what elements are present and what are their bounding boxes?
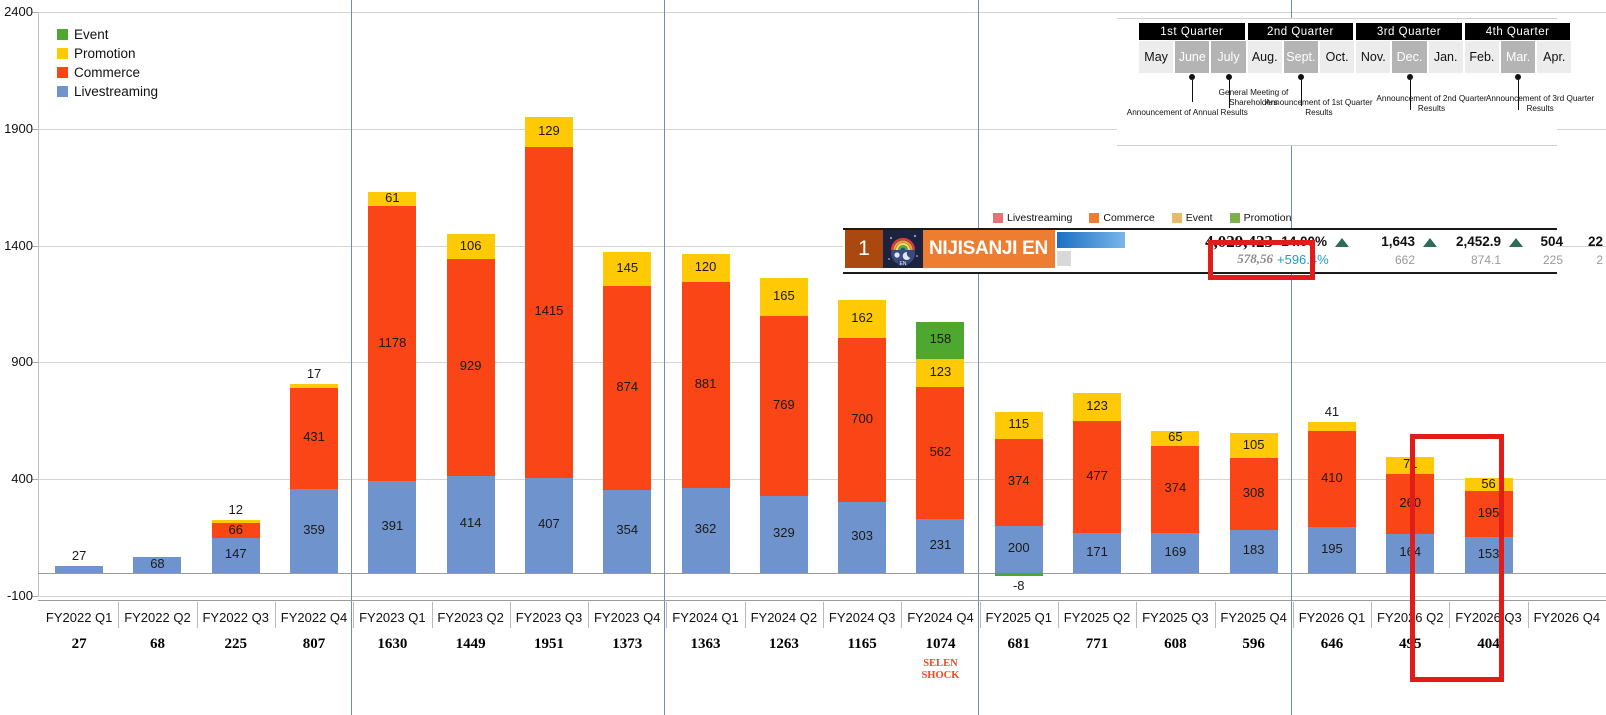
event-label: Announcement of Annual Results — [1112, 108, 1262, 118]
segment-value-label: 200 — [995, 541, 1043, 554]
x-tick-label: FY2023 Q3 — [510, 610, 588, 625]
avatar: EN — [883, 230, 923, 268]
bar-segment-livestreaming: 200 — [995, 526, 1043, 573]
event-label: Announcement of 1st Quarter Results — [1261, 98, 1376, 118]
segment-value-label: 700 — [838, 412, 886, 425]
legend-swatch-icon — [57, 29, 68, 40]
bar-segment-promotion: 106 — [447, 234, 495, 259]
segment-value-label: 769 — [760, 398, 808, 411]
quarter-total: 1363 — [666, 636, 744, 653]
quarter-total: 807 — [275, 636, 353, 653]
bar-segment-commerce: 477 — [1073, 421, 1121, 532]
bar-segment-livestreaming: 414 — [447, 476, 495, 573]
month-cell: July — [1211, 41, 1245, 73]
red-highlight-fy2026q3 — [1410, 434, 1504, 682]
col2-primary: 1,643 — [1355, 234, 1415, 249]
bar-segment-promotion: 129 — [525, 117, 573, 147]
month-cell: Apr. — [1537, 41, 1571, 73]
bar-segment-promotion: 165 — [760, 278, 808, 317]
col2-secondary: 662 — [1355, 253, 1415, 267]
bar-segment-livestreaming: 329 — [760, 496, 808, 573]
bar-segment-livestreaming: 407 — [525, 478, 573, 573]
revenue-gray-bar — [1057, 251, 1071, 266]
month-cell: Aug. — [1248, 41, 1282, 73]
y-tick-label: 900 — [0, 354, 33, 369]
segment-value-label: 410 — [1308, 471, 1356, 484]
mini-legend-label: Promotion — [1244, 212, 1292, 224]
quarter-header: 2nd Quarter — [1248, 23, 1354, 40]
calendar-top-rule — [1117, 18, 1557, 19]
legend-swatch-icon — [57, 67, 68, 78]
x-tick-label: FY2025 Q3 — [1136, 610, 1214, 625]
month-cell: Sept. — [1284, 41, 1318, 73]
segment-value-label: 120 — [682, 260, 730, 273]
month-cell: May — [1139, 41, 1173, 73]
segment-value-label-outside: 12 — [212, 502, 260, 517]
gridline — [38, 362, 1606, 363]
bar-segment-promotion: 120 — [682, 254, 730, 282]
x-label-separator — [980, 602, 981, 628]
month-cell: Feb. — [1465, 41, 1499, 73]
x-label-separator — [353, 602, 354, 628]
segment-value-label: 61 — [368, 191, 416, 204]
segment-value-label: 66 — [212, 523, 260, 536]
bar-segment-commerce: 308 — [1230, 458, 1278, 530]
quarter-total: 608 — [1136, 636, 1214, 653]
bar-segment-commerce: 66 — [212, 523, 260, 538]
bar-segment-commerce: 1178 — [368, 206, 416, 481]
col3-secondary: 874.1 — [1439, 253, 1501, 267]
quarter-total: 1951 — [510, 636, 588, 653]
gridline — [38, 12, 1606, 13]
quarter-total: 68 — [118, 636, 196, 653]
quarter-total: 27 — [40, 636, 118, 653]
quarter-total: 225 — [197, 636, 275, 653]
x-label-separator — [588, 602, 589, 628]
segment-value-label: 195 — [1308, 542, 1356, 555]
gridline — [38, 596, 1606, 597]
x-tick-label: FY2026 Q4 — [1528, 610, 1606, 625]
up-triangle-icon-1 — [1335, 238, 1349, 247]
y-tick-label: 1400 — [0, 238, 33, 253]
segment-value-label: 183 — [1230, 543, 1278, 556]
mini-legend-item: Event — [1172, 212, 1213, 224]
quarter-total: 1165 — [823, 636, 901, 653]
x-label-separator — [275, 602, 276, 628]
legend-item-commerce[interactable]: Commerce — [57, 63, 158, 82]
ranking-row[interactable]: 1 EN NIJISANJI EN 4,029,423 5 — [843, 228, 1557, 274]
quarter-header: 1st Quarter — [1139, 23, 1245, 40]
bar-segment-commerce: 874 — [603, 286, 651, 490]
legend-item-event[interactable]: Event — [57, 25, 158, 44]
x-label-separator — [510, 602, 511, 628]
bar-segment-livestreaming: 391 — [368, 481, 416, 572]
red-highlight-growth — [1208, 240, 1315, 280]
revenue-gradient-bar — [1057, 232, 1125, 248]
segment-value-label: 929 — [447, 359, 495, 372]
x-tick-label: FY2024 Q1 — [666, 610, 744, 625]
segment-value-label: 362 — [682, 522, 730, 535]
x-label-separator — [901, 602, 902, 628]
svg-text:EN: EN — [900, 261, 907, 267]
event-label: Announcement of 3rd Quarter Results — [1480, 94, 1600, 114]
month-cell: Dec. — [1392, 41, 1426, 73]
segment-value-label: 477 — [1073, 469, 1121, 482]
bar-segment-promotion — [1308, 422, 1356, 432]
segment-value-label: 123 — [1073, 399, 1121, 412]
segment-value-label-outside: 17 — [290, 366, 338, 381]
bar-segment-promotion: 123 — [916, 359, 964, 388]
x-label-separator — [745, 602, 746, 628]
x-label-separator — [118, 602, 119, 628]
x-label-separator — [432, 602, 433, 628]
x-label-separator — [1371, 602, 1372, 628]
chart-legend: EventPromotionCommerceLivestreaming — [57, 25, 158, 101]
quarter-total: 646 — [1293, 636, 1371, 653]
bar-segment-commerce: 700 — [838, 338, 886, 502]
legend-label: Livestreaming — [74, 84, 158, 99]
x-label-separator — [1058, 602, 1059, 628]
segment-value-label: 374 — [995, 474, 1043, 487]
y-tick-label: 400 — [0, 471, 33, 486]
bar-segment-livestreaming: 362 — [682, 488, 730, 573]
bar-segment-promotion: 65 — [1151, 431, 1199, 446]
mini-legend-item: Promotion — [1230, 212, 1292, 224]
bar-segment-promotion: 145 — [603, 252, 651, 286]
x-label-separator — [1293, 602, 1294, 628]
x-tick-label: FY2022 Q2 — [118, 610, 196, 625]
segment-value-label: 105 — [1230, 438, 1278, 451]
segment-value-label-outside: 27 — [55, 548, 103, 563]
quarter-total: 1263 — [745, 636, 823, 653]
x-tick-label: FY2022 Q4 — [275, 610, 353, 625]
segment-value-label-outside: 41 — [1308, 404, 1356, 419]
bar-segment-livestreaming: 169 — [1151, 533, 1199, 572]
month-cell: Nov. — [1356, 41, 1390, 73]
x-tick-label: FY2023 Q4 — [588, 610, 666, 625]
fiscal-year-divider — [664, 0, 665, 715]
segment-value-label: 106 — [447, 239, 495, 252]
bar-segment-commerce: 881 — [682, 282, 730, 488]
x-label-separator — [666, 602, 667, 628]
col4-primary: 504 — [1523, 234, 1563, 249]
bar-segment-commerce: 374 — [995, 439, 1043, 526]
x-tick-label: FY2024 Q3 — [823, 610, 901, 625]
x-tick-label: FY2022 Q1 — [40, 610, 118, 625]
quarter-total: 1630 — [353, 636, 431, 653]
bar-segment-livestreaming: 147 — [212, 538, 260, 572]
segment-value-label: 68 — [133, 557, 181, 570]
bar-segment-promotion: 123 — [1073, 393, 1121, 422]
up-triangle-icon-2 — [1423, 238, 1437, 247]
col3-primary: 2,452.9 — [1439, 234, 1501, 249]
segment-value-label: 329 — [760, 526, 808, 539]
bar-segment-commerce: 374 — [1151, 446, 1199, 533]
bar-segment-promotion: 162 — [838, 300, 886, 338]
month-cell: Oct. — [1320, 41, 1354, 73]
segment-value-label: 359 — [290, 523, 338, 536]
bar-segment-livestreaming: 195 — [1308, 527, 1356, 573]
quarter-total: 1449 — [432, 636, 510, 653]
segment-value-label: 147 — [212, 547, 260, 560]
ranking-mini-legend: LivestreamingCommerceEventPromotion — [993, 210, 1291, 226]
bar-segment-livestreaming: 231 — [916, 519, 964, 573]
legend-label: Event — [74, 27, 109, 42]
legend-swatch-icon — [57, 48, 68, 59]
segment-value-label: 115 — [995, 417, 1043, 430]
bar-segment-livestreaming: 68 — [133, 557, 181, 573]
fiscal-year-divider — [351, 0, 352, 715]
segment-value-label: 874 — [603, 380, 651, 393]
bar-segment-livestreaming — [55, 566, 103, 572]
segment-value-label: 308 — [1230, 486, 1278, 499]
segment-value-label: 1415 — [525, 304, 573, 317]
segment-value-label: 162 — [838, 311, 886, 324]
mini-legend-swatch-icon — [993, 213, 1003, 223]
col5-secondary: 2 — [1565, 253, 1603, 267]
mini-legend-label: Livestreaming — [1007, 212, 1072, 224]
segment-value-label: 129 — [525, 124, 573, 137]
legend-item-livestreaming[interactable]: Livestreaming — [57, 82, 158, 101]
segment-value-label: 431 — [290, 430, 338, 443]
legend-swatch-icon — [57, 86, 68, 97]
quarter-total: 596 — [1215, 636, 1293, 653]
segment-value-label: 414 — [447, 516, 495, 529]
rank-number: 1 — [845, 230, 883, 268]
segment-value-label: 145 — [603, 261, 651, 274]
segment-value-label: 303 — [838, 529, 886, 542]
mini-legend-label: Commerce — [1103, 212, 1154, 224]
legend-item-promotion[interactable]: Promotion — [57, 44, 158, 63]
mini-legend-swatch-icon — [1089, 213, 1099, 223]
month-cell: Jan. — [1429, 41, 1463, 73]
bar-segment-promotion — [212, 520, 260, 523]
legend-label: Commerce — [74, 65, 140, 80]
bar-segment-commerce: 562 — [916, 387, 964, 518]
x-tick-label: FY2025 Q4 — [1215, 610, 1293, 625]
month-cell: Mar. — [1501, 41, 1535, 73]
x-tick-label: FY2025 Q1 — [980, 610, 1058, 625]
x-tick-label: FY2022 Q3 — [197, 610, 275, 625]
segment-value-label: 169 — [1151, 545, 1199, 558]
mini-legend-label: Event — [1186, 212, 1213, 224]
bar-segment-commerce: 431 — [290, 388, 338, 489]
event-label: Announcement of 2nd Quarter Results — [1372, 94, 1492, 114]
ranking-overlay: LivestreamingCommerceEventPromotion 1 EN — [843, 210, 1557, 273]
mini-legend-swatch-icon — [1230, 213, 1240, 223]
col5-primary: 22 — [1565, 234, 1603, 249]
fiscal-year-divider — [978, 0, 979, 715]
segment-value-label: 391 — [368, 519, 416, 532]
segment-value-label: 354 — [603, 523, 651, 536]
segment-value-label: 158 — [916, 332, 964, 345]
x-tick-label: FY2024 Q4 — [901, 610, 979, 625]
month-cell: June — [1175, 41, 1209, 73]
x-label-separator — [1215, 602, 1216, 628]
bar-segment-promotion: 61 — [368, 192, 416, 206]
segment-value-label: 123 — [916, 365, 964, 378]
x-label-separator — [823, 602, 824, 628]
bar-segment-commerce: 410 — [1308, 431, 1356, 527]
gridline — [38, 479, 1606, 480]
x-label-separator — [197, 602, 198, 628]
segment-value-label: 562 — [916, 445, 964, 458]
zero-baseline — [38, 573, 1606, 574]
x-tick-label: FY2025 Q2 — [1058, 610, 1136, 625]
bar-segment-promotion: 105 — [1230, 433, 1278, 458]
x-axis-rule — [38, 600, 1606, 601]
segment-value-label: 231 — [916, 538, 964, 551]
segment-value-label: 65 — [1151, 430, 1199, 443]
x-tick-label: FY2024 Q2 — [745, 610, 823, 625]
quarter-header: 4th Quarter — [1465, 23, 1571, 40]
bar-segment-livestreaming: 354 — [603, 490, 651, 573]
selen-shock-annotation: SELENSHOCK — [901, 658, 979, 682]
segment-value-label: 374 — [1151, 481, 1199, 494]
bar-segment-promotion — [290, 384, 338, 388]
segment-value-label: 171 — [1073, 545, 1121, 558]
y-tick-label: 1900 — [0, 121, 33, 136]
segment-value-label: 165 — [760, 289, 808, 302]
segment-value-label: 1178 — [368, 336, 416, 349]
segment-value-label: 881 — [682, 377, 730, 390]
bar-segment-event-negative — [995, 573, 1043, 576]
x-label-separator — [1528, 602, 1529, 628]
bar-segment-commerce: 1415 — [525, 147, 573, 478]
calendar-bottom-rule — [1117, 145, 1557, 146]
bar-segment-event: 158 — [916, 322, 964, 359]
x-label-separator — [1136, 602, 1137, 628]
legend-label: Promotion — [74, 46, 136, 61]
mini-legend-item: Commerce — [1089, 212, 1154, 224]
bar-segment-commerce: 929 — [447, 259, 495, 476]
up-triangle-icon-3 — [1509, 238, 1523, 247]
mini-legend-item: Livestreaming — [993, 212, 1072, 224]
quarter-total: 681 — [980, 636, 1058, 653]
bar-segment-livestreaming: 183 — [1230, 530, 1278, 573]
quarter-total: 771 — [1058, 636, 1136, 653]
y-axis-line — [38, 12, 39, 596]
y-tick-label: -100 — [0, 588, 33, 603]
quarter-total: 1373 — [588, 636, 666, 653]
bar-segment-livestreaming: 359 — [290, 489, 338, 573]
segment-value-label: 407 — [525, 517, 573, 530]
bar-segment-promotion: 115 — [995, 412, 1043, 439]
mini-legend-swatch-icon — [1172, 213, 1182, 223]
bar-segment-livestreaming: 171 — [1073, 533, 1121, 573]
quarter-header: 3rd Quarter — [1356, 23, 1462, 40]
x-tick-label: FY2023 Q2 — [432, 610, 510, 625]
bar-segment-commerce: 769 — [760, 316, 808, 496]
x-tick-label: FY2023 Q1 — [353, 610, 431, 625]
col4-secondary: 225 — [1523, 253, 1563, 267]
x-tick-label: FY2026 Q1 — [1293, 610, 1371, 625]
ir-calendar-overlay: 1st Quarter2nd Quarter3rd Quarter4th Qua… — [1117, 18, 1557, 146]
y-tick-label: 2400 — [0, 4, 33, 19]
negative-value-label: -8 — [995, 578, 1043, 593]
quarter-total: 1074 — [901, 636, 979, 653]
channel-name: NIJISANJI EN — [923, 230, 1055, 268]
bar-segment-livestreaming: 303 — [838, 502, 886, 573]
